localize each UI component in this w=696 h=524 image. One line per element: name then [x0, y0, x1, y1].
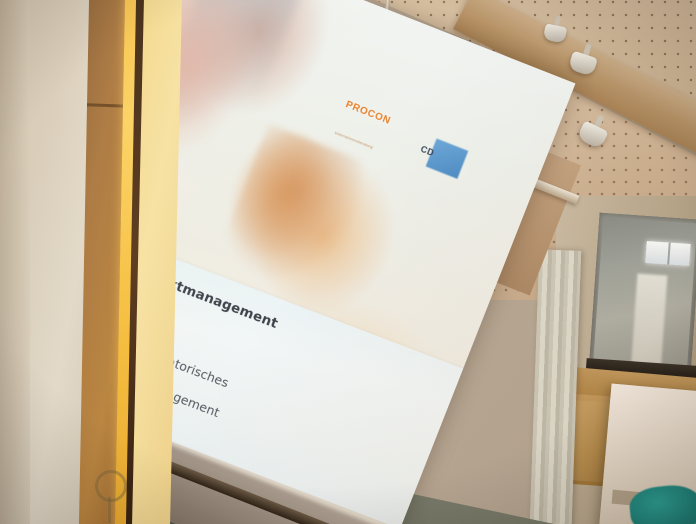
door-pull-ring-icon: [95, 470, 127, 502]
procon-logo-subtext: Unternehmensberatung: [334, 131, 373, 150]
room-photo-scene: PROCON Unternehmensberatung CD Seminar P…: [0, 0, 696, 524]
left-wall-shadow: [0, 0, 30, 524]
cdhot-logo-square: [426, 138, 469, 178]
